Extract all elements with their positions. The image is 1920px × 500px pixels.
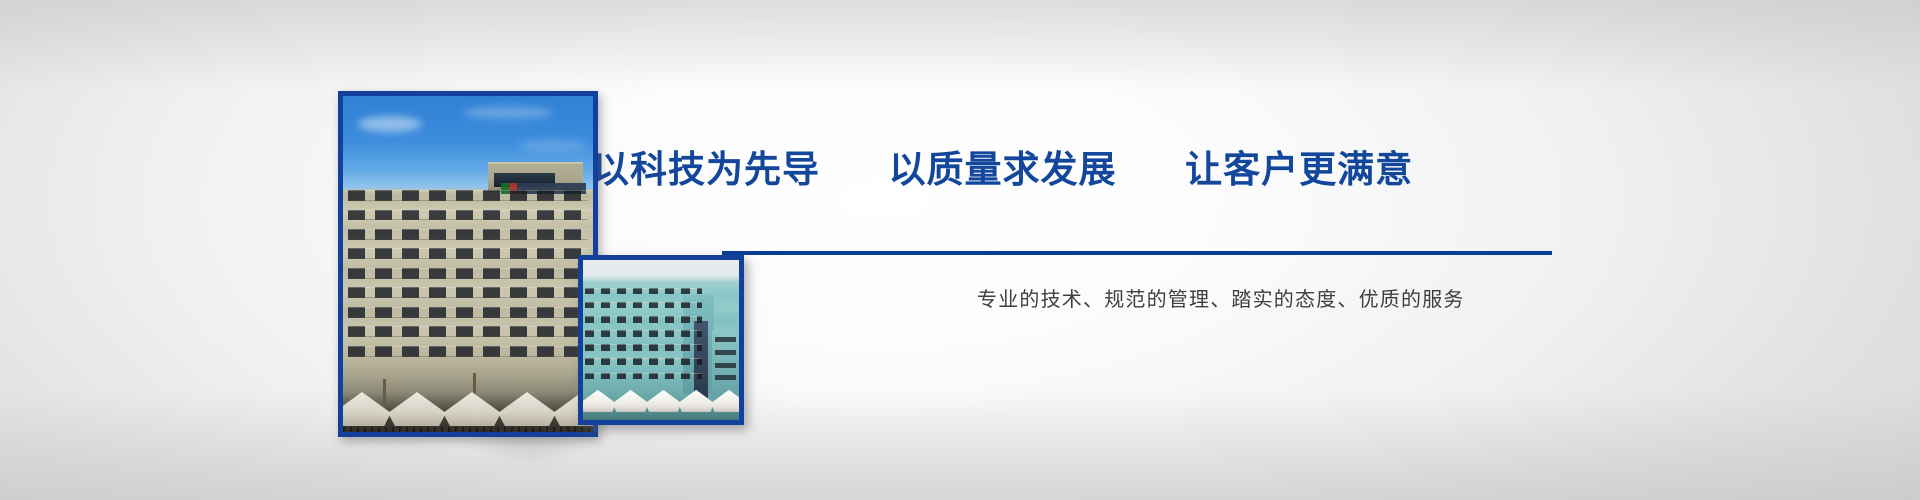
window-row bbox=[585, 302, 702, 309]
window-row bbox=[585, 316, 702, 323]
window-row bbox=[585, 358, 702, 365]
tent bbox=[678, 390, 714, 412]
photo-office-building-beige bbox=[338, 91, 598, 437]
tent-row bbox=[343, 382, 593, 432]
tent bbox=[711, 390, 739, 412]
top-vignette bbox=[0, 0, 1920, 90]
window-row bbox=[585, 330, 702, 337]
bottom-vignette bbox=[0, 390, 1920, 500]
headline-segment-3: 让客户更满意 bbox=[1185, 139, 1413, 193]
cloud-shape bbox=[358, 116, 422, 132]
cloud-shape bbox=[463, 106, 553, 119]
tent bbox=[645, 390, 681, 412]
tent-row bbox=[583, 382, 739, 417]
window-row bbox=[348, 268, 588, 279]
window-grid bbox=[583, 286, 739, 395]
photo-office-building-teal bbox=[578, 255, 744, 425]
window-row bbox=[348, 326, 588, 337]
tent bbox=[583, 390, 616, 412]
window-row bbox=[348, 229, 588, 240]
window-row bbox=[348, 287, 588, 298]
window-row bbox=[585, 344, 702, 351]
tent bbox=[498, 392, 556, 426]
window-row bbox=[585, 288, 702, 295]
window-row bbox=[348, 307, 588, 318]
tent bbox=[613, 390, 649, 412]
tent bbox=[388, 392, 446, 426]
cloud-shape bbox=[518, 140, 588, 151]
headline-divider bbox=[722, 251, 1552, 255]
subtitle: 专业的技术、规范的管理、踏实的态度、优质的服务 bbox=[977, 283, 1465, 312]
window-row bbox=[348, 346, 588, 357]
headline-segment-1: 以科技为先导 bbox=[592, 139, 820, 193]
window-row bbox=[585, 373, 702, 380]
tent bbox=[443, 392, 501, 426]
window-row bbox=[348, 190, 588, 201]
fence bbox=[343, 427, 593, 432]
banner-root: 以科技为先导 以质量求发展 让客户更满意 专业的技术、规范的管理、踏实的态度、优… bbox=[0, 0, 1920, 500]
photo-office-building-teal-image bbox=[583, 260, 739, 420]
window-row bbox=[348, 210, 588, 221]
headline-segment-2: 以质量求发展 bbox=[889, 139, 1117, 193]
headline: 以科技为先导 以质量求发展 让客户更满意 bbox=[592, 139, 1413, 193]
window-row bbox=[348, 248, 588, 259]
photo-office-building-beige-image bbox=[343, 96, 593, 432]
window-grid bbox=[343, 190, 593, 395]
